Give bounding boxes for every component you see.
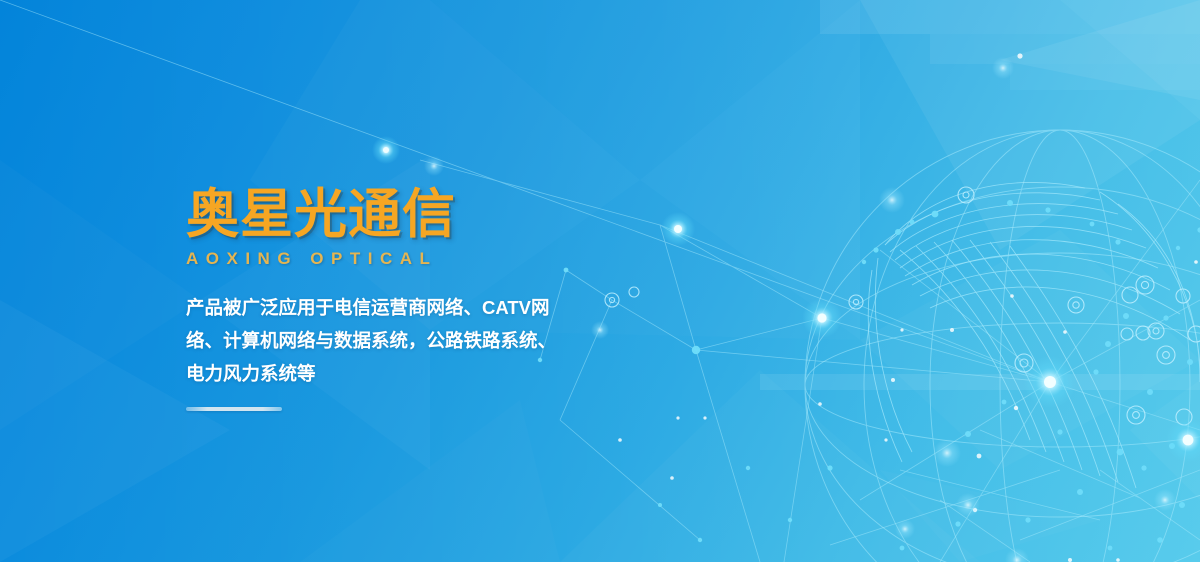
hero-description: 产品被广泛应用于电信运营商网络、CATV网 络、计算机网络与数据系统，公路铁路系… [186, 291, 596, 390]
hero-banner: 奥星光通信 AOXING OPTICAL 产品被广泛应用于电信运营商网络、CAT… [0, 0, 1200, 562]
divider-rule [186, 407, 282, 411]
brand-subtitle-en: AOXING OPTICAL [186, 249, 616, 269]
description-line-1: 产品被广泛应用于电信运营商网络、CATV网 [186, 291, 596, 324]
hero-copy: 奥星光通信 AOXING OPTICAL 产品被广泛应用于电信运营商网络、CAT… [186, 186, 616, 411]
brand-title-cn: 奥星光通信 [186, 186, 616, 243]
description-line-3: 电力风力系统等 [186, 357, 596, 390]
description-line-2: 络、计算机网络与数据系统，公路铁路系统、 [186, 324, 596, 357]
